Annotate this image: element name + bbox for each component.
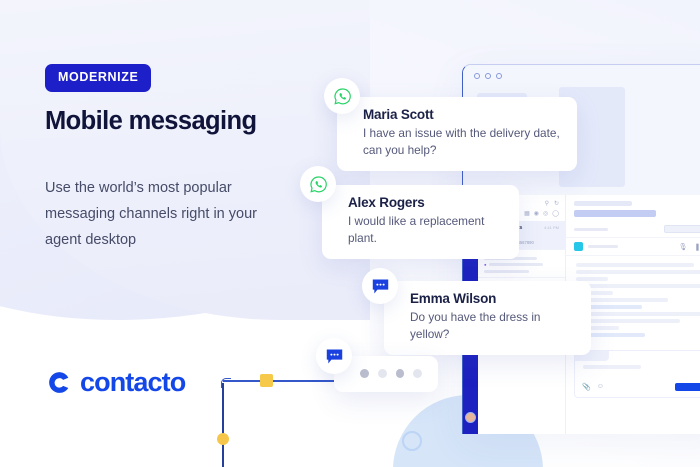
chat-bubble-icon (371, 278, 390, 295)
send-button[interactable] (675, 383, 700, 391)
chat-bubble-name: Alex Rogers (348, 195, 503, 210)
connector-yellow-square (260, 374, 273, 387)
window-dot-icon (496, 73, 502, 79)
chat-bubble-emma: Emma Wilson Do you have the dress in yel… (384, 281, 591, 355)
message-composer[interactable]: 📎 ☺ (574, 350, 700, 398)
chat-dot-icon: ● (484, 262, 487, 267)
typing-dot (396, 369, 405, 378)
promo-banner: ⚲ ↻ ▦ ◉ ◎ ◯ Karen Roberts 4:41 PM ☎ (0, 0, 700, 467)
chat-bubble-message: Do you have the dress in yellow? (410, 309, 575, 343)
page-title: Mobile messaging (45, 107, 335, 136)
mockup-window-titlebar (463, 65, 700, 87)
whatsapp-icon-badge-maria (324, 78, 360, 114)
whatsapp-icon-badge-alex (300, 166, 336, 202)
window-dot-icon (485, 73, 491, 79)
whatsapp-icon (333, 87, 352, 106)
page-subcopy: Use the world’s most popular messaging c… (45, 176, 260, 253)
contacto-c-mark-icon (48, 371, 71, 394)
chat-bubble-maria: Maria Scott I have an issue with the del… (337, 97, 577, 171)
tag-icon: ◎ (543, 210, 548, 217)
chat-bubble-alex: Alex Rogers I would like a replacement p… (322, 185, 519, 259)
pause-icon[interactable]: ❚❚ (695, 243, 700, 251)
chat-icon-badge-emma (362, 268, 398, 304)
connector-vertical-line (222, 383, 224, 467)
chat-bubble-message: I have an issue with the delivery date, … (363, 125, 561, 159)
dropdown-select[interactable] (664, 225, 700, 233)
avatar (465, 412, 476, 423)
chat-bubble-name: Emma Wilson (410, 291, 575, 306)
search-icon: ⚲ (545, 200, 549, 207)
eyebrow-badge: MODERNIZE (45, 64, 151, 92)
panel-tab-active[interactable] (574, 210, 656, 217)
connector-yellow-dot (217, 433, 229, 445)
filter-icon: ◯ (552, 210, 559, 217)
typing-dot (378, 369, 387, 378)
clock-icon: ◉ (534, 210, 539, 217)
active-call-row: 🎙 ❚❚ ☎ (566, 238, 700, 256)
brand-logo[interactable]: contacto (48, 369, 185, 396)
grid-icon: ▦ (524, 210, 530, 217)
typing-dot (413, 369, 422, 378)
chat-bubble-icon (325, 348, 344, 365)
panel-tab[interactable] (574, 201, 632, 206)
chat-bubble-name: Maria Scott (363, 107, 561, 122)
window-dot-icon (474, 73, 480, 79)
brand-name: contacto (80, 369, 185, 396)
contact-avatar-icon (574, 242, 583, 251)
conversation-time: 4:41 PM (544, 225, 559, 230)
typing-dot (360, 369, 369, 378)
emoji-icon[interactable]: ☺ (597, 383, 604, 391)
typing-indicator (360, 369, 422, 378)
attachment-icon[interactable]: 📎 (582, 383, 591, 391)
main-panel-header (566, 195, 700, 221)
chat-icon-badge-typing (316, 338, 352, 374)
chat-bubble-message: I would like a replacement plant. (348, 213, 503, 247)
channel-indicator: ● (484, 262, 559, 267)
refresh-icon: ↻ (554, 200, 559, 207)
main-panel-toolbar: ▣ (566, 221, 700, 238)
mic-icon[interactable]: 🎙 (679, 243, 688, 251)
whatsapp-icon (309, 175, 328, 194)
